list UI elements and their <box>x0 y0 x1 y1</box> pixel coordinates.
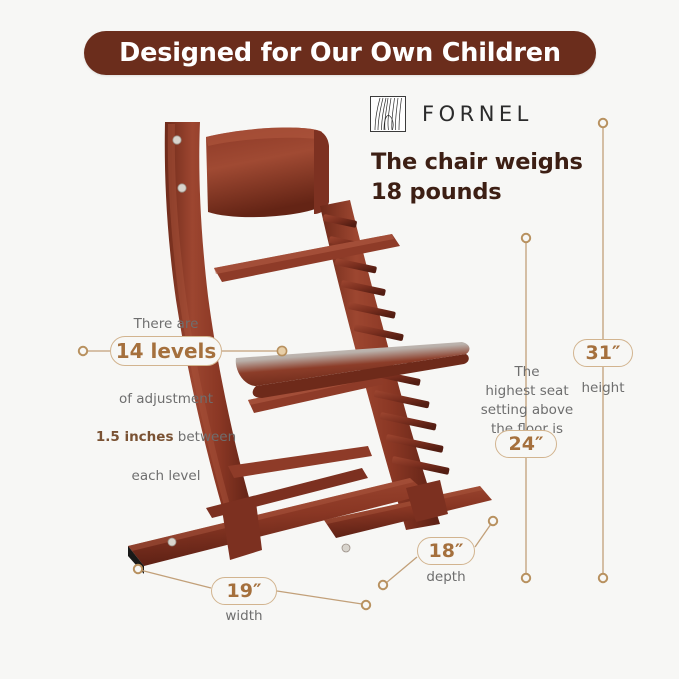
levels-caption-bottom: of adjustment 1.5 inches between each le… <box>86 371 246 486</box>
total-height-top-marker <box>599 119 607 127</box>
width-right-marker <box>362 601 370 609</box>
depth-value: 18″ <box>429 540 464 562</box>
infographic-canvas: Designed for Our Own Children FORNEL <box>0 0 679 679</box>
chair-backrest <box>206 128 329 218</box>
width-value-pill: 19″ <box>211 577 277 605</box>
levels-value-pill: 14 levels <box>110 336 222 366</box>
levels-value: 14 levels <box>116 339 217 363</box>
seat-height-value: 24″ <box>509 433 544 455</box>
total-height-value: 31″ <box>586 342 621 364</box>
width-line-right <box>277 591 362 604</box>
total-height-value-pill: 31″ <box>573 339 633 367</box>
seat-height-value-pill: 24″ <box>495 430 557 458</box>
seat-height-top-marker <box>522 234 530 242</box>
levels-spacing-value: 1.5 inches <box>96 429 174 445</box>
levels-caption-top: There are <box>96 315 236 334</box>
width-value: 19″ <box>227 580 262 602</box>
levels-endpoint-marker <box>79 347 87 355</box>
page-title: Designed for Our Own Children <box>119 38 561 68</box>
seat-height-caption: The highest seat setting above the floor… <box>479 363 575 440</box>
depth-left-marker <box>379 581 387 589</box>
levels-caption-line1: of adjustment <box>119 391 213 407</box>
width-caption: width <box>211 607 277 626</box>
total-height-bottom-marker <box>599 574 607 582</box>
header-banner: Designed for Our Own Children <box>84 31 596 75</box>
depth-caption: depth <box>417 568 475 587</box>
total-height-caption: height <box>573 379 633 398</box>
chair-tray-bar <box>214 234 400 282</box>
levels-caption-line2-rest: between <box>174 429 237 445</box>
levels-caption-line3: each level <box>132 468 201 484</box>
seat-height-bottom-marker <box>522 574 530 582</box>
depth-value-pill: 18″ <box>417 537 475 565</box>
